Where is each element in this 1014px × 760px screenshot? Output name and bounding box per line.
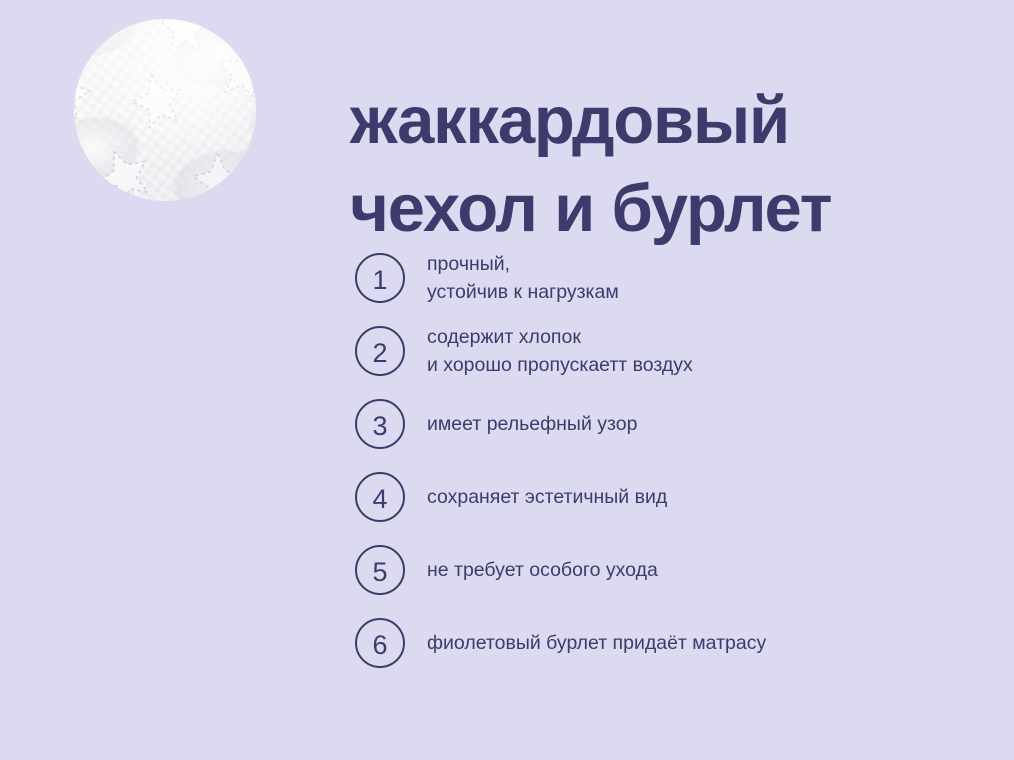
list-item: 4 сохраняет эстетичный вид (355, 460, 975, 533)
page-title: жаккардовый чехол и бурлет (350, 77, 1000, 253)
list-item-label: прочный, устойчив к нагрузкам (427, 250, 619, 306)
list-item: 3 имеет рельефный узор (355, 387, 975, 460)
list-item-label: фиолетовый бурлет придаёт матрасу (427, 629, 766, 657)
list-item-number: 3 (355, 399, 405, 449)
list-item-number: 5 (355, 545, 405, 595)
list-item-number: 1 (355, 253, 405, 303)
list-item: 2 содержит хлопок и хорошо пропускаетт в… (355, 314, 975, 387)
list-item-label: имеет рельефный узор (427, 410, 637, 438)
slide-root: жаккардовый чехол и бурлет 1 прочный, ус… (0, 0, 1014, 760)
list-item-number: 6 (355, 618, 405, 668)
list-item: 5 не требует особого ухода (355, 533, 975, 606)
jacquard-fabric-swatch (74, 19, 256, 201)
list-item-label: содержит хлопок и хорошо пропускаетт воз… (427, 323, 693, 379)
list-item-number: 4 (355, 472, 405, 522)
list-item: 1 прочный, устойчив к нагрузкам (355, 241, 975, 314)
list-item: 6 фиолетовый бурлет придаёт матрасу (355, 606, 975, 679)
list-item-label: сохраняет эстетичный вид (427, 483, 667, 511)
list-item-number: 2 (355, 326, 405, 376)
fabric-star-stitching (74, 19, 256, 201)
feature-list: 1 прочный, устойчив к нагрузкам 2 содерж… (355, 241, 975, 679)
list-item-label: не требует особого ухода (427, 556, 658, 584)
